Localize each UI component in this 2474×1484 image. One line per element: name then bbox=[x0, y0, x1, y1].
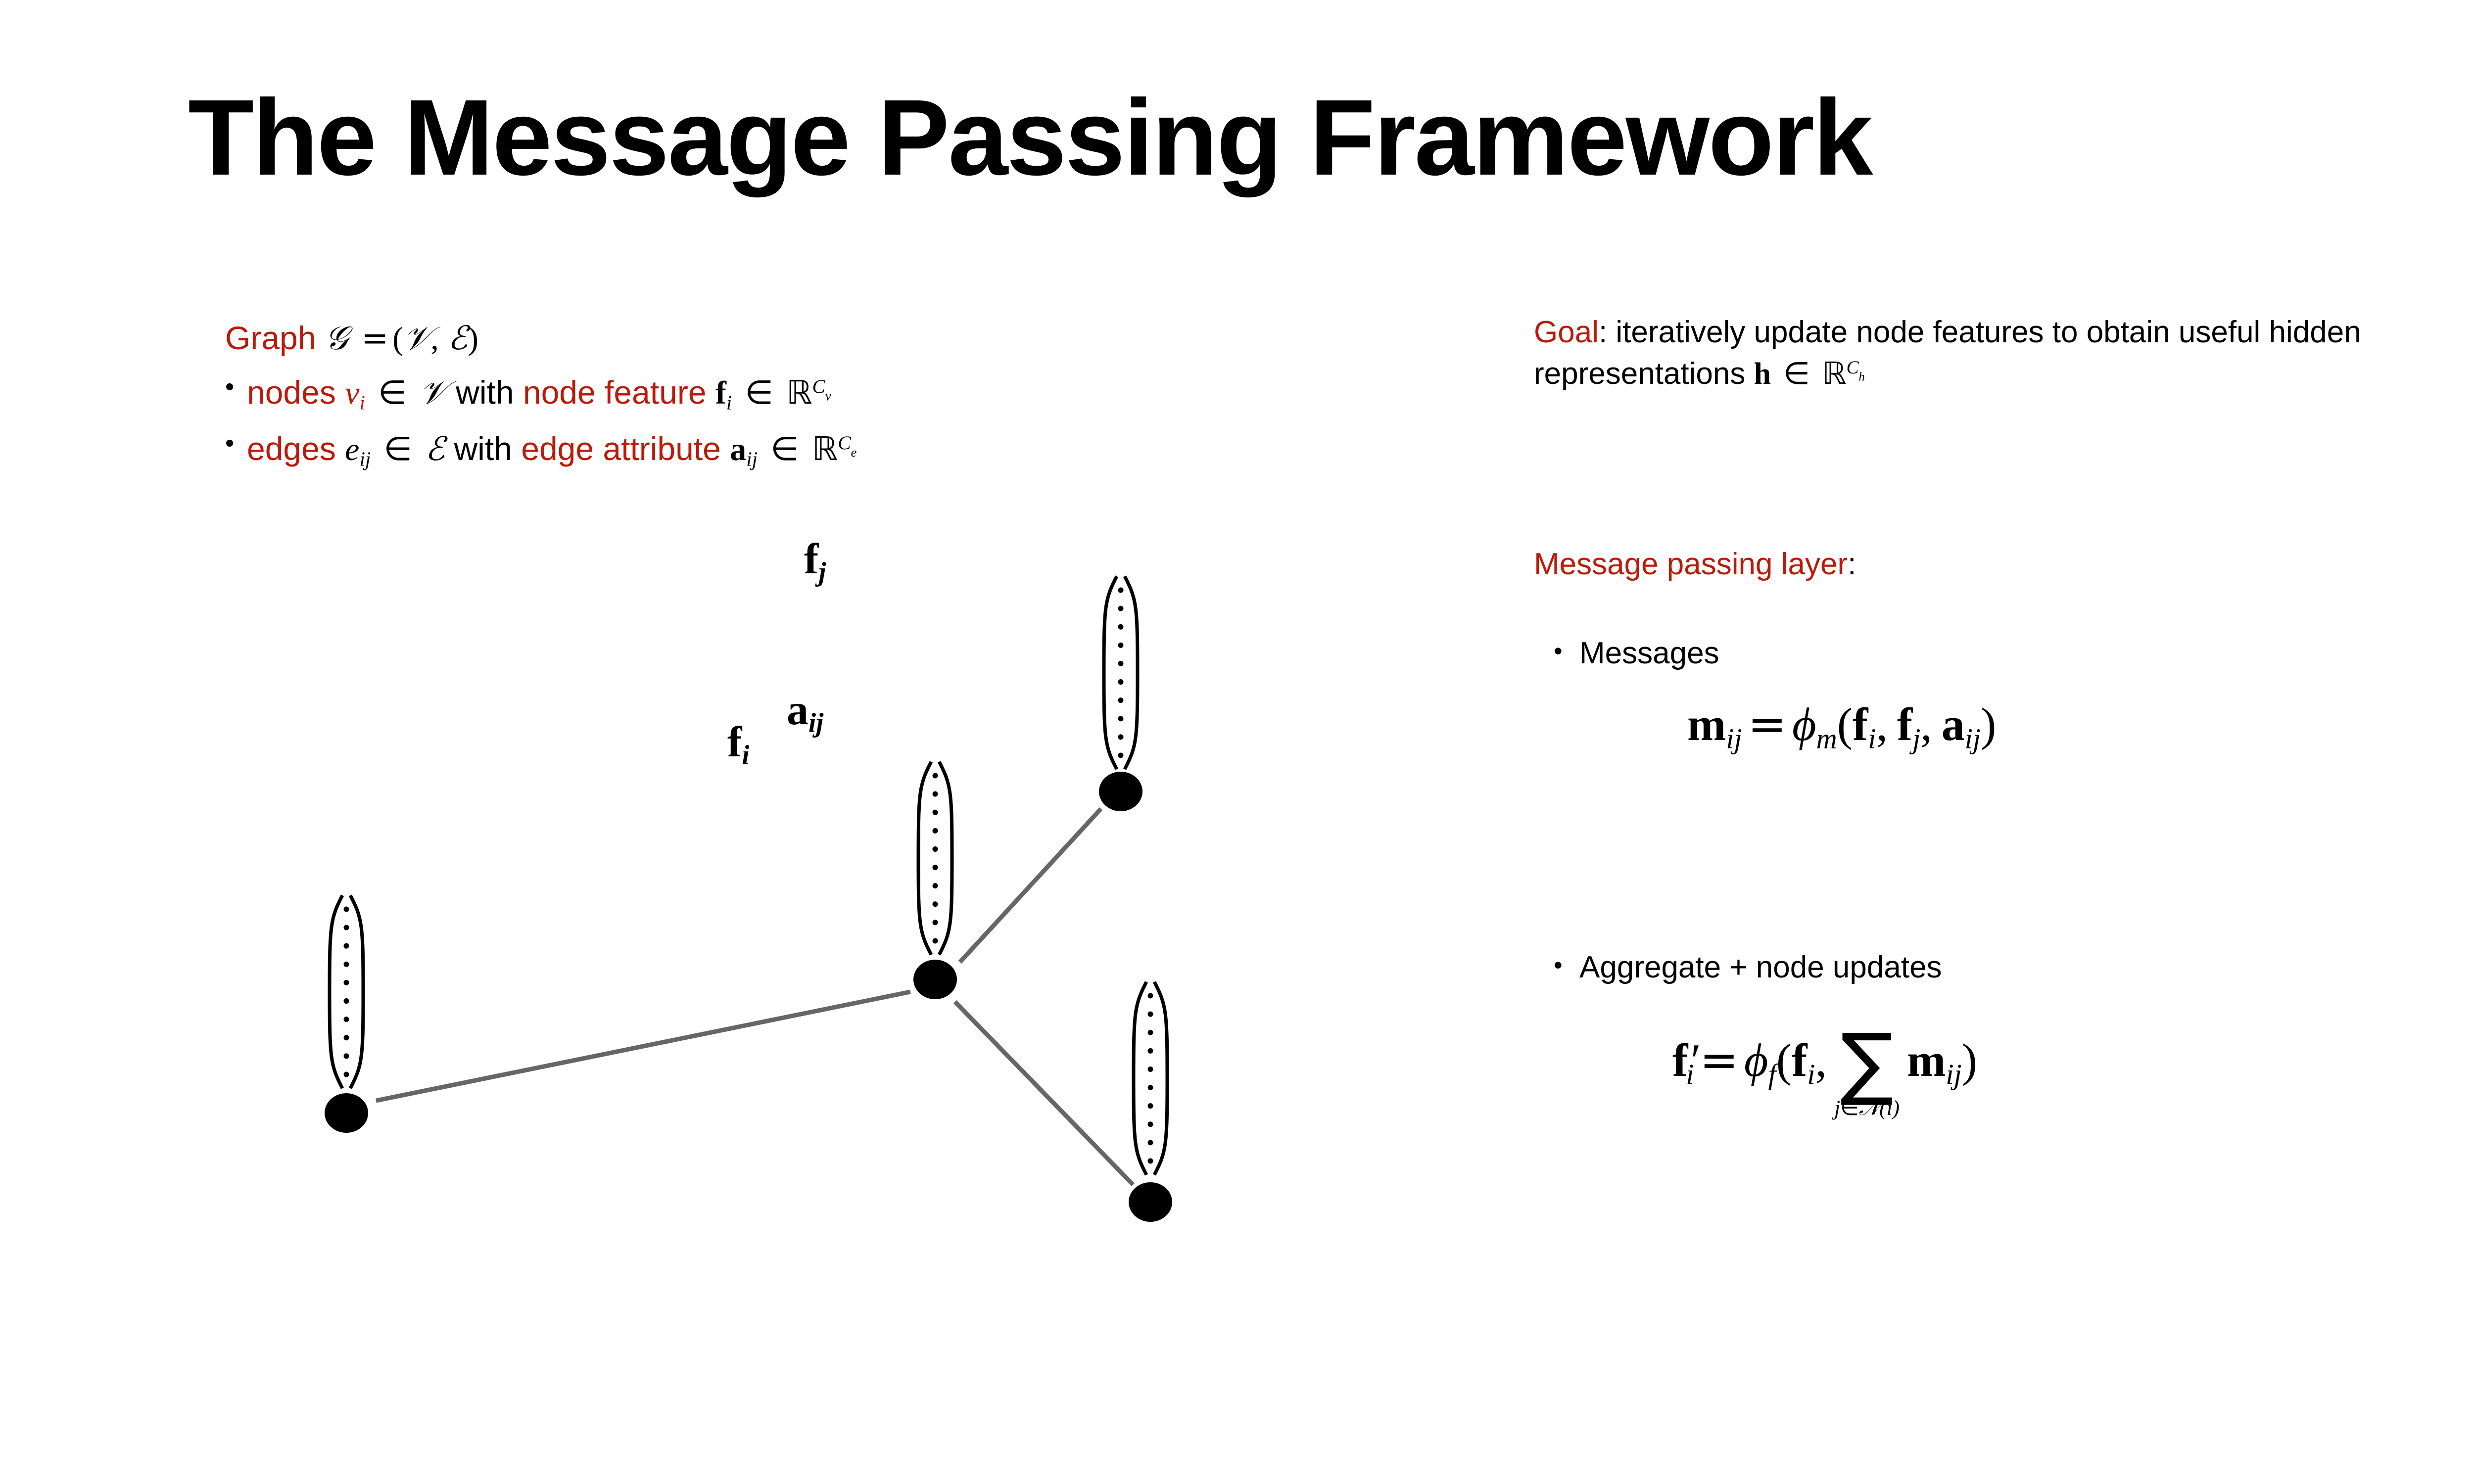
vector-entry-dot bbox=[1118, 624, 1124, 630]
vector-entry-dot bbox=[1148, 1121, 1153, 1127]
symbol-vec-f-subscript: i bbox=[1807, 1058, 1815, 1090]
vector-entry-dot bbox=[933, 883, 938, 888]
symbol-comma: , bbox=[1920, 699, 1932, 750]
vector-entry-dot bbox=[344, 1072, 349, 1077]
vector-paren-right bbox=[350, 895, 363, 1088]
vector-entry-dot bbox=[344, 998, 349, 1004]
with-word: with bbox=[454, 430, 512, 467]
equation-messages: mij=ϕm(fi, fj, aij) bbox=[1687, 697, 1996, 755]
symbol-vec-f-subscript: i bbox=[726, 392, 732, 414]
vector-entry-dot bbox=[1148, 1067, 1153, 1072]
vector-entry-dot bbox=[1118, 697, 1124, 703]
symbol-vec-h: h bbox=[1754, 357, 1771, 391]
node-top-right bbox=[1099, 772, 1142, 811]
symbol-script-G: 𝒢 bbox=[325, 319, 348, 357]
symbol-paren-open: ( bbox=[1776, 1035, 1792, 1086]
bullet-marker: • bbox=[225, 427, 247, 460]
vector-entry-dot bbox=[1118, 588, 1124, 593]
vector-entry-dot bbox=[1148, 1140, 1153, 1145]
edge-center-bottom-right bbox=[955, 1002, 1133, 1185]
node-bottom-right bbox=[1129, 1182, 1172, 1222]
symbol-blackboard-R: ℝ bbox=[812, 430, 838, 468]
vector-entry-dot bbox=[1118, 716, 1124, 721]
list-item-aggregate: • Aggregate + node updates bbox=[1554, 950, 1942, 985]
symbol-C-subscript: e bbox=[851, 445, 857, 460]
symbol-comma: , bbox=[1876, 699, 1888, 750]
page-title: The Message Passing Framework bbox=[188, 84, 2464, 192]
vector-entry-dot bbox=[933, 846, 938, 852]
symbol-element-of: ∈ bbox=[1779, 355, 1813, 391]
symbol-script-V: 𝒱 bbox=[420, 373, 447, 412]
vector-entry-dot bbox=[344, 1035, 349, 1040]
symbol-C: C bbox=[812, 375, 825, 397]
vector-entry-dot bbox=[933, 810, 938, 815]
message-passing-layer-label: Message passing layer bbox=[1534, 547, 1848, 581]
symbol-script-N: 𝒩 bbox=[1859, 1096, 1879, 1120]
vector-entry-dot bbox=[1148, 1030, 1153, 1035]
vector-paren-left bbox=[1134, 982, 1146, 1175]
vector-entry-dot bbox=[1148, 1159, 1153, 1164]
edge-center-top-right bbox=[960, 809, 1101, 962]
equation-node-update: f′i=ϕf(fi,∑j∈𝒩(i)mij) bbox=[1672, 1026, 1977, 1119]
list-item-nodes: • nodes vi ∈ 𝒱 with node feature fi ∈ ℝC… bbox=[225, 371, 1165, 416]
symbol-j: j bbox=[1834, 1096, 1840, 1120]
symbol-comma: , bbox=[430, 321, 439, 357]
heading-colon: : bbox=[1848, 547, 1856, 581]
symbol-vec-f-subscript: i bbox=[742, 740, 749, 770]
graph-diagram: fi fj aij bbox=[213, 559, 1351, 1276]
graph-svg bbox=[213, 559, 1351, 1276]
vector-entry-dot bbox=[933, 828, 938, 834]
symbol-vec-a: a bbox=[1942, 699, 1965, 750]
vector-entry-dot bbox=[1118, 643, 1124, 648]
vector-paren-left bbox=[918, 762, 931, 955]
symbol-vec-a-subscript: ij bbox=[809, 707, 823, 738]
vector-paren-left bbox=[1104, 576, 1117, 769]
vector-entry-dot bbox=[344, 907, 349, 912]
vector-paren-right bbox=[1154, 982, 1167, 1175]
vector-paren-right bbox=[939, 762, 952, 955]
symbol-element-of: ∈ bbox=[1840, 1096, 1859, 1120]
symbol-e: e bbox=[345, 431, 359, 467]
symbol-equals: = bbox=[1742, 697, 1792, 751]
summation-limit: j∈𝒩(i) bbox=[1834, 1098, 1900, 1119]
node-center bbox=[913, 960, 957, 999]
goal-label: Goal bbox=[1534, 315, 1599, 349]
symbol-blackboard-R: ℝ bbox=[1822, 355, 1846, 391]
symbol-vec-m-subscript: ij bbox=[1946, 1058, 1961, 1090]
symbol-blackboard-R: ℝ bbox=[786, 373, 812, 412]
symbol-paren-close: ) bbox=[1981, 699, 1996, 750]
vector-entry-dot bbox=[1118, 679, 1124, 685]
symbol-paren-close: ) bbox=[468, 321, 478, 357]
symbol-vec-a-subscript: ij bbox=[1965, 722, 1981, 754]
symbol-vec-a: a bbox=[730, 431, 746, 467]
symbol-e-subscript: ij bbox=[359, 448, 371, 470]
list-item-edges: • edges eij ∈ ℰ with edge attribute aij … bbox=[225, 427, 1165, 472]
symbol-script-V: 𝒱 bbox=[403, 319, 430, 357]
label-edge-attribute-aij: aij bbox=[787, 685, 823, 738]
symbol-element-of: ∈ bbox=[380, 430, 416, 468]
symbol-script-E: ℰ bbox=[448, 319, 468, 357]
symbol-C: C bbox=[1847, 358, 1859, 378]
vector-entry-dot bbox=[344, 1017, 349, 1022]
vector-entry-dot bbox=[933, 938, 938, 944]
symbol-element-of: ∈ bbox=[374, 373, 410, 412]
graph-nodes-group bbox=[325, 772, 1172, 1222]
symbol-phi: ϕ bbox=[1792, 699, 1816, 750]
with-word: with bbox=[456, 374, 514, 411]
edge-attribute-keyword: edge attribute bbox=[521, 430, 721, 467]
vec-top-right bbox=[1104, 576, 1138, 769]
vector-entry-dot bbox=[344, 980, 349, 985]
vector-paren-left bbox=[330, 895, 342, 1088]
vec-left bbox=[330, 895, 363, 1088]
symbol-vec-a: a bbox=[787, 686, 809, 734]
vec-bottom-right bbox=[1134, 982, 1167, 1175]
vector-entry-dot bbox=[344, 1053, 349, 1059]
vector-entry-dot bbox=[344, 925, 349, 930]
summation-operator: ∑j∈𝒩(i) bbox=[1834, 1026, 1900, 1119]
symbol-phi-subscript: f bbox=[1768, 1058, 1776, 1090]
symbol-v: v bbox=[345, 375, 359, 411]
vector-entry-dot bbox=[344, 962, 349, 967]
slide-canvas: The Message Passing Framework Graph 𝒢 =(… bbox=[0, 0, 2474, 1484]
vector-entry-dot bbox=[344, 943, 349, 949]
vector-paren-right bbox=[1125, 576, 1138, 769]
vector-entry-dot bbox=[1148, 1085, 1153, 1090]
symbol-vec-f-subscript: i bbox=[1868, 722, 1876, 754]
goal-block: Goal: iteratively update node features t… bbox=[1534, 312, 2474, 395]
edges-keyword: edges bbox=[247, 430, 336, 467]
symbol-C-subscript: h bbox=[1858, 371, 1864, 384]
symbol-equals: = bbox=[1694, 1033, 1744, 1087]
vector-entry-dot bbox=[1148, 1103, 1153, 1109]
symbol-paren-close: ) bbox=[1962, 1035, 1977, 1086]
graph-definition-headline: Graph 𝒢 =(𝒱, ℰ) bbox=[225, 317, 1165, 360]
symbol-vec-f: f bbox=[1792, 1035, 1807, 1086]
symbol-vec-f-subscript: i bbox=[1686, 1058, 1694, 1090]
vector-entry-dot bbox=[1148, 1048, 1153, 1054]
node-left bbox=[325, 1093, 368, 1133]
message-passing-layer-heading: Message passing layer: bbox=[1534, 547, 1856, 582]
symbol-v-subscript: i bbox=[359, 392, 365, 414]
symbol-C-subscript: v bbox=[825, 388, 831, 403]
vector-entry-dot bbox=[933, 901, 938, 907]
edge-left-center bbox=[376, 992, 910, 1101]
symbol-phi-subscript: m bbox=[1816, 722, 1837, 754]
symbol-vec-m: m bbox=[1687, 699, 1726, 750]
symbol-vec-f: f bbox=[1897, 699, 1912, 750]
label-feature-vector-fi: fi bbox=[727, 717, 749, 770]
vec-center bbox=[918, 762, 952, 955]
vector-entry-dot bbox=[1148, 1012, 1153, 1017]
symbol-paren-open: ( bbox=[1837, 699, 1853, 750]
symbol-element-of: ∈ bbox=[766, 430, 803, 468]
symbol-vec-f-subscript: j bbox=[818, 556, 826, 587]
symbol-sigma: ∑ bbox=[1840, 1026, 1894, 1099]
graph-definition-block: Graph 𝒢 =(𝒱, ℰ) • nodes vi ∈ 𝒱 with node… bbox=[225, 317, 1165, 472]
label-feature-vector-fj: fj bbox=[804, 534, 826, 587]
symbol-C: C bbox=[838, 431, 851, 453]
vector-entry-dot bbox=[933, 773, 938, 779]
vector-entry-dot bbox=[1118, 606, 1124, 611]
symbol-comma: , bbox=[1815, 1035, 1827, 1086]
list-item-aggregate-label: Aggregate + node updates bbox=[1579, 950, 1942, 985]
vector-entry-dot bbox=[933, 791, 938, 797]
symbol-vec-m: m bbox=[1907, 1035, 1946, 1086]
graph-label: Graph bbox=[225, 320, 316, 356]
symbol-paren-open: ( bbox=[392, 321, 403, 357]
list-item-nodes-text: nodes vi ∈ 𝒱 with node feature fi ∈ ℝCv bbox=[247, 371, 1165, 416]
goal-text-line1: : iteratively update node features to ob… bbox=[1599, 315, 2170, 349]
list-item-messages-label: Messages bbox=[1579, 636, 1719, 671]
vector-entry-dot bbox=[933, 865, 938, 870]
list-item-edges-text: edges eij ∈ ℰ with edge attribute aij ∈ … bbox=[247, 427, 1165, 472]
graph-edges-group bbox=[376, 809, 1133, 1185]
symbol-neighborhood-arg: (i) bbox=[1879, 1096, 1900, 1120]
nodes-keyword: nodes bbox=[247, 374, 336, 411]
symbol-vec-f-subscript: j bbox=[1912, 722, 1920, 754]
symbol-element-of: ∈ bbox=[741, 373, 777, 412]
vector-entry-dot bbox=[1118, 661, 1124, 666]
vector-entry-dot bbox=[1148, 993, 1153, 999]
symbol-vec-f: f bbox=[1853, 699, 1868, 750]
list-item-messages: • Messages bbox=[1554, 636, 1719, 671]
symbol-script-E: ℰ bbox=[425, 430, 445, 468]
bullet-marker: • bbox=[1554, 950, 1579, 981]
vector-entry-dot bbox=[1118, 734, 1124, 740]
symbol-vec-m-subscript: ij bbox=[1726, 722, 1742, 754]
symbol-vec-a-subscript: ij bbox=[746, 448, 758, 470]
node-feature-keyword: node feature bbox=[523, 374, 707, 411]
bullet-marker: • bbox=[1554, 636, 1579, 667]
symbol-vec-f: f bbox=[727, 718, 742, 766]
symbol-vec-f: f bbox=[804, 535, 818, 583]
vector-entry-dot bbox=[933, 920, 938, 925]
symbol-phi: ϕ bbox=[1744, 1035, 1768, 1086]
symbol-equals: = bbox=[357, 319, 392, 357]
symbol-vec-f: f bbox=[715, 375, 726, 411]
bullet-marker: • bbox=[225, 371, 247, 403]
vector-entry-dot bbox=[1118, 753, 1124, 758]
